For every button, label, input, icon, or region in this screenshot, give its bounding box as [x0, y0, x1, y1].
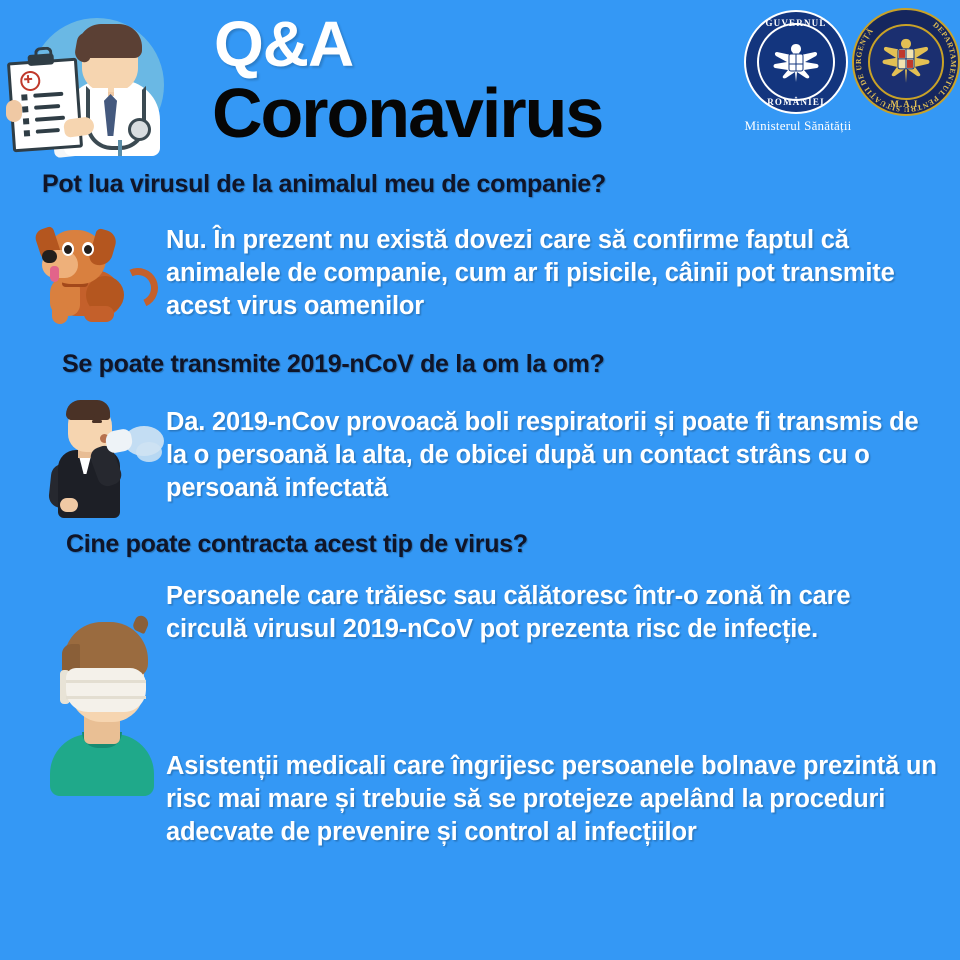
ministry-of-health-caption: Ministerul Sănătății: [724, 118, 872, 134]
man-hand-hip: [60, 498, 78, 512]
pen-icon: [118, 140, 122, 156]
dog-illustration: [28, 214, 152, 332]
answer-1: Nu. În prezent nu există dovezi care să …: [166, 224, 948, 323]
clipboard-line: [34, 104, 60, 110]
question-2: Se poate transmite 2019-nCoV de la om la…: [62, 350, 605, 379]
answer-2: Da. 2019-nCov provoacă boli respiratorii…: [166, 406, 936, 505]
coughing-man-illustration: [48, 394, 170, 518]
doctor-hand-left: [6, 100, 22, 122]
gov-seal-top-text: GUVERNUL: [744, 18, 848, 28]
question-3: Cine poate contracta acest tip de virus?: [66, 530, 528, 559]
gov-seal-bottom-text: ROMÂNIEI: [744, 97, 848, 107]
dog-eye-left: [62, 242, 74, 256]
stethoscope-bell-icon: [128, 118, 151, 141]
dsu-eagle-icon: [877, 34, 935, 88]
emergency-department-logo: DEPARTAMENTUL PENTRU SITUAȚII DE URGENȚĂ…: [852, 8, 960, 116]
page-title-qa: Q&A: [214, 12, 353, 76]
infographic-poster: Q&A Coronavirus GUVERNUL ROMÂNIEI Minist…: [0, 0, 960, 960]
man-eye: [92, 420, 102, 423]
answer-3-part-2: Asistenții medicali care îngrijesc perso…: [166, 750, 948, 849]
doctor-illustration: [8, 14, 168, 166]
man-hair: [66, 400, 110, 420]
answer-3: Persoanele care trăiesc sau călătoresc î…: [166, 580, 938, 646]
dog-tongue: [50, 266, 59, 282]
page-title-coronavirus: Coronavirus: [212, 78, 602, 148]
face-mask-pleat: [66, 680, 146, 683]
logo-group: GUVERNUL ROMÂNIEI Ministerul Sănătății: [724, 6, 954, 142]
checkbox-icon: [21, 94, 27, 100]
masked-person-illustration: [30, 606, 170, 796]
poster-header: Q&A Coronavirus GUVERNUL ROMÂNIEI Minist…: [0, 0, 960, 168]
face-mask-pleat: [66, 696, 146, 699]
question-1: Pot lua virusul de la animalul meu de co…: [42, 170, 606, 199]
government-of-romania-logo: GUVERNUL ROMÂNIEI: [744, 10, 848, 114]
clipboard-line: [36, 128, 60, 134]
medical-cross-icon: [20, 70, 41, 91]
dog-back-leg: [84, 306, 114, 322]
cough-cloud-small: [136, 442, 162, 462]
dog-front-leg: [52, 302, 68, 324]
checkbox-icon: [22, 106, 28, 112]
dsu-mai-text: M.A.I.: [852, 99, 960, 109]
clipboard-line: [35, 116, 65, 122]
eagle-icon: [769, 38, 823, 86]
clipboard-ring: [34, 46, 53, 60]
checkbox-icon: [24, 130, 30, 136]
checkbox-icon: [23, 118, 29, 124]
dog-nose: [42, 250, 57, 263]
face-mask-icon: [66, 668, 146, 712]
clipboard-line: [33, 92, 63, 98]
dog-eye-right: [82, 242, 94, 256]
